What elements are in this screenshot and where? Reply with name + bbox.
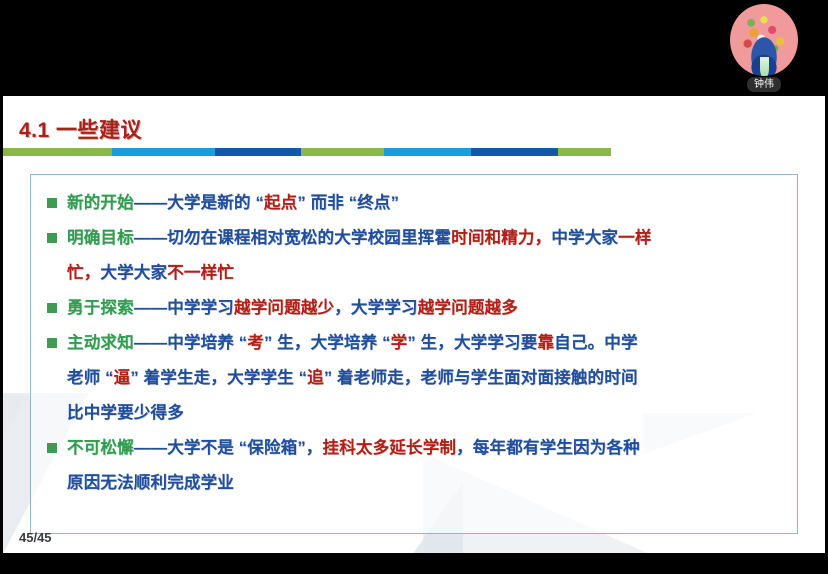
text-run-red: 不一样忙 — [167, 264, 234, 282]
text-run-blue: 老师 “ — [67, 369, 114, 387]
text-run-blue: ” 而非 “终点” — [297, 194, 399, 212]
rule-segment — [3, 148, 112, 156]
bullet-text: 勇于探索——中学学习越学问题越少，大学学习越学问题越多 — [67, 292, 787, 325]
text-run-blue: ——切勿在课程相对宽松的大学校园里挥霍 — [134, 229, 451, 247]
bullet-continuation-line: 原因无法顺利完成学业 — [39, 467, 787, 500]
bullet-text: 明确目标——切勿在课程相对宽松的大学校园里挥霍时间和精力，中学大家一样 — [67, 222, 787, 255]
text-run-blue: ” 生，大学学习要 — [407, 334, 537, 352]
bullet-square-icon — [47, 198, 57, 208]
bullet-item: 新的开始——大学是新的 “起点” 而非 “终点” — [39, 187, 787, 220]
bullet-text: 忙，大学大家不一样忙 — [67, 257, 787, 290]
bullet-text: 不可松懈——大学不是 “保险箱”，挂科太多延长学制，每年都有学生因为各种 — [67, 432, 787, 465]
bullet-item: 勇于探索——中学学习越学问题越少，大学学习越学问题越多 — [39, 292, 787, 325]
text-run-red: 考 — [247, 334, 264, 352]
text-run-blue: ——中学培养 “ — [134, 334, 247, 352]
text-run-blue: 中学大家 — [551, 229, 618, 247]
text-run-green: 主动求知 — [67, 334, 134, 352]
bullet-square-icon — [47, 443, 57, 453]
text-run-blue: 原因无法顺利完成学业 — [67, 474, 234, 492]
text-run-red: 靠 — [537, 334, 554, 352]
bullet-text: 比中学要少得多 — [67, 397, 787, 430]
bullet-item: 主动求知——中学培养 “考” 生，大学培养 “学” 生，大学学习要靠自己。中学 — [39, 327, 787, 360]
text-run-red: 时间和精力， — [451, 229, 551, 247]
text-run-red: 一样 — [618, 229, 651, 247]
bouquet-stem-icon — [760, 57, 769, 76]
text-run-blue: ，大学学习 — [334, 299, 418, 317]
text-run-red: 挂科太多延长学制 — [323, 439, 457, 457]
text-run-green: 新的开始 — [67, 194, 134, 212]
text-run-blue: ” 着学生走，大学学生 “ — [130, 369, 307, 387]
bullet-text: 新的开始——大学是新的 “起点” 而非 “终点” — [67, 187, 787, 220]
participant-tile[interactable]: 钟伟 — [718, 2, 810, 94]
title-divider-rule — [3, 148, 611, 156]
bullet-square-icon — [47, 303, 57, 313]
rule-segment — [384, 148, 471, 156]
bullet-continuation-line: 忙，大学大家不一样忙 — [39, 257, 787, 290]
text-run-red: 起点 — [264, 194, 297, 212]
bullet-item: 明确目标——切勿在课程相对宽松的大学校园里挥霍时间和精力，中学大家一样 — [39, 222, 787, 255]
bullet-continuation-line: 比中学要少得多 — [39, 397, 787, 430]
rule-segment — [471, 148, 558, 156]
bullet-square-icon — [47, 233, 57, 243]
text-run-blue: 大学大家 — [100, 264, 167, 282]
text-run-red: 忙， — [67, 264, 100, 282]
rule-segment — [112, 148, 215, 156]
bullet-text: 原因无法顺利完成学业 — [67, 467, 787, 500]
text-run-red: 追 — [307, 369, 324, 387]
text-run-blue: ，每年都有学生因为各种 — [456, 439, 640, 457]
text-run-blue: ——大学不是 “保险箱”， — [134, 439, 323, 457]
rule-segment — [301, 148, 384, 156]
rule-segment — [558, 148, 611, 156]
text-run-blue: ——大学是新的 “ — [134, 194, 264, 212]
text-run-green: 明确目标 — [67, 229, 134, 247]
page-number: 45/45 — [19, 530, 52, 545]
text-run-blue: ” 生，大学培养 “ — [264, 334, 391, 352]
text-run-red: 学 — [391, 334, 408, 352]
bullet-content-box: 新的开始——大学是新的 “起点” 而非 “终点”明确目标——切勿在课程相对宽松的… — [30, 174, 798, 534]
text-run-red: 越学问题越少 — [234, 299, 334, 317]
slide-title: 4.1 一些建议 — [19, 114, 142, 144]
bullet-square-icon — [47, 338, 57, 348]
bullet-text: 老师 “逼” 着学生走，大学学生 “追” 着老师走，老师与学生面对面接触的时间 — [67, 362, 787, 395]
text-run-green: 勇于探索 — [67, 299, 134, 317]
bullet-continuation-line: 老师 “逼” 着学生走，大学学生 “追” 着老师走，老师与学生面对面接触的时间 — [39, 362, 787, 395]
video-participant-strip: 钟伟 — [0, 0, 828, 96]
shared-slide: 4.1 一些建议 新的开始——大学是新的 “起点” 而非 “终点”明确目标——切… — [3, 96, 825, 553]
participant-name-tag: 钟伟 — [747, 77, 781, 92]
text-run-red: 越学问题越多 — [418, 299, 518, 317]
flower-bouquet-avatar-icon — [730, 4, 798, 76]
text-run-green: 不可松懈 — [67, 439, 134, 457]
screen-share-window: 钟伟 4.1 一些建议 新的开始——大学是新的 “起点” 而非 “终点”明确目标… — [0, 0, 828, 574]
text-run-blue: 比中学要少得多 — [67, 404, 184, 422]
text-run-blue: 自己。中学 — [554, 334, 638, 352]
bullet-text: 主动求知——中学培养 “考” 生，大学培养 “学” 生，大学学习要靠自己。中学 — [67, 327, 787, 360]
rule-segment — [215, 148, 301, 156]
bullet-item: 不可松懈——大学不是 “保险箱”，挂科太多延长学制，每年都有学生因为各种 — [39, 432, 787, 465]
text-run-blue: ” 着老师走，老师与学生面对面接触的时间 — [324, 369, 638, 387]
text-run-blue: ——中学学习 — [134, 299, 234, 317]
text-run-red: 逼 — [114, 369, 131, 387]
